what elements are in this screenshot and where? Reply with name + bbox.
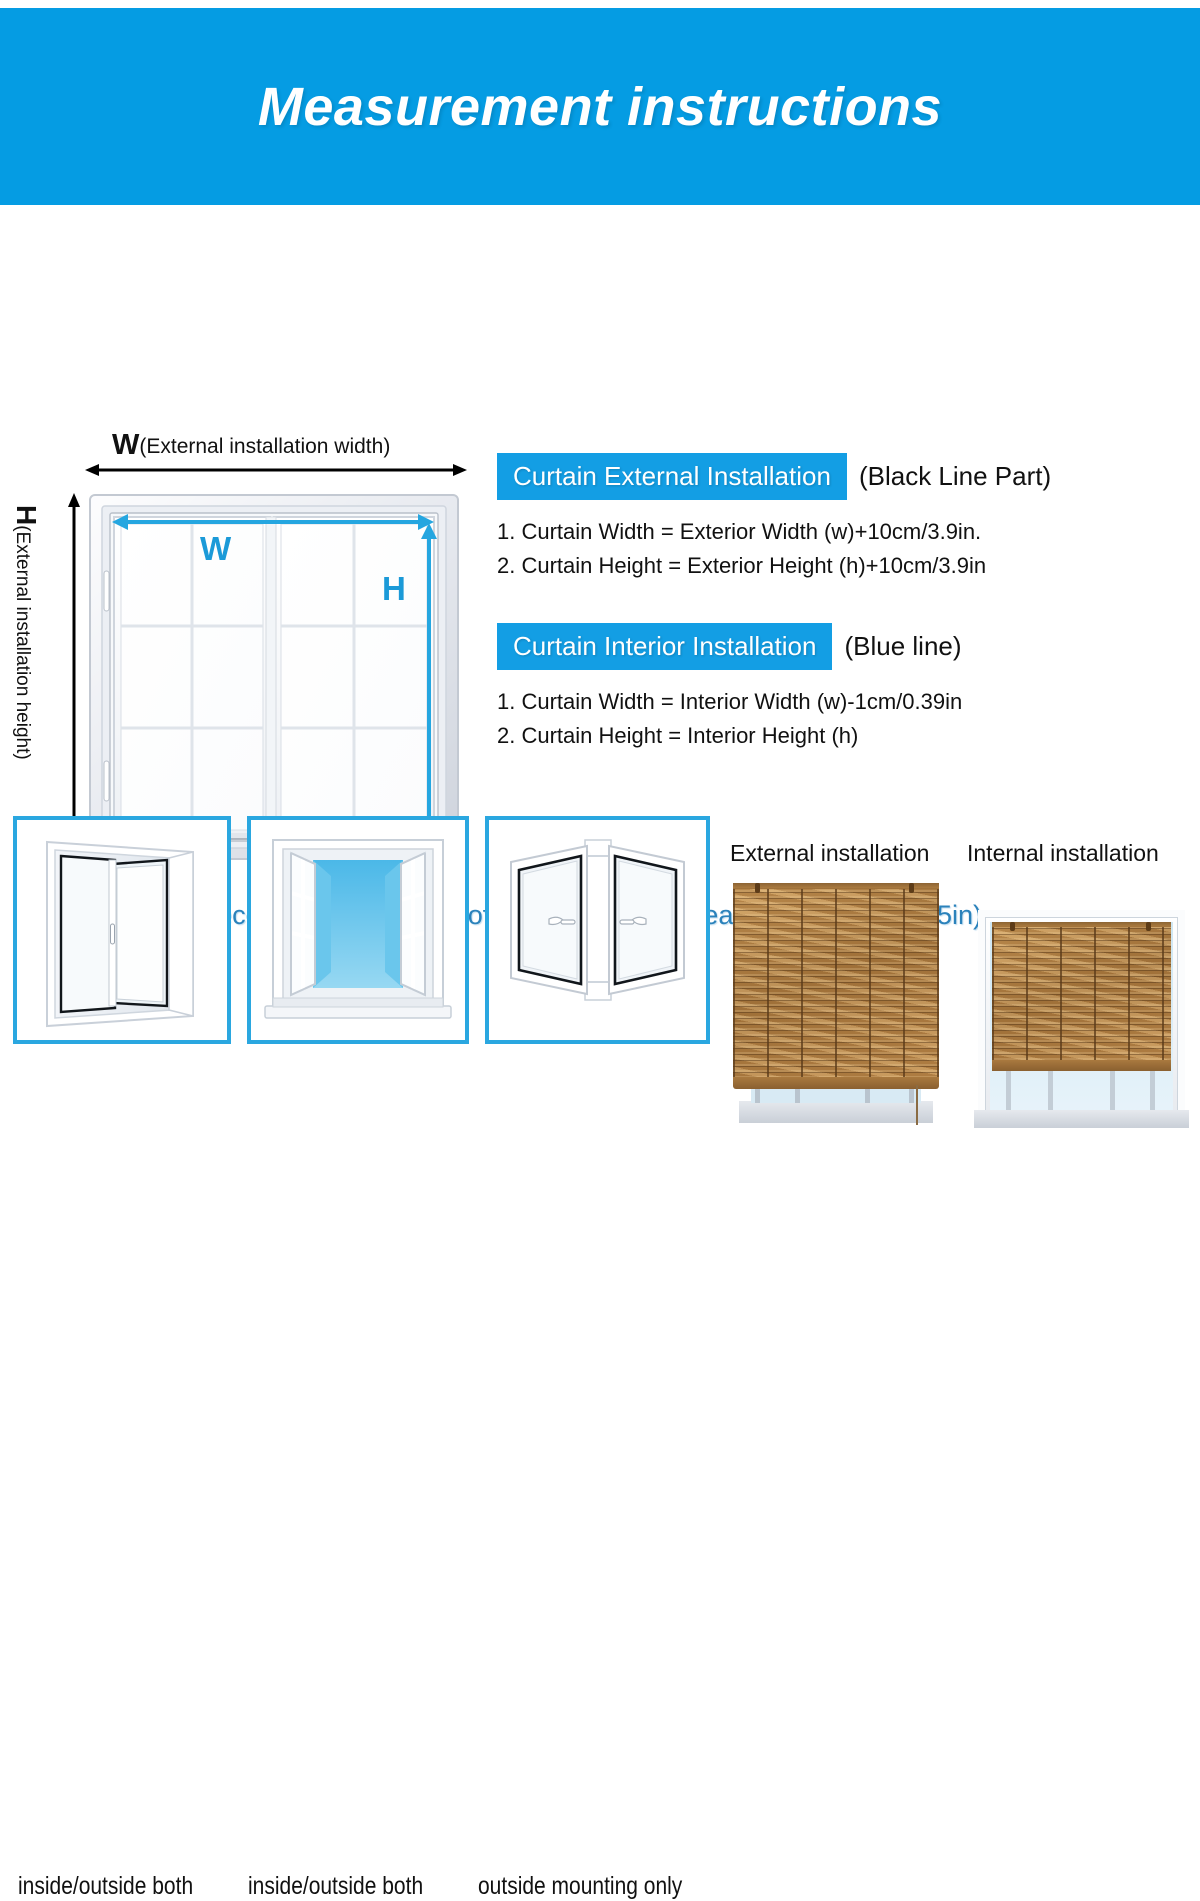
external-instruction-item: 2. Curtain Height = Exterior Height (h)+… [497,555,1177,589]
window-type-box-double-doors [485,816,710,1044]
window-type-caption: inside/outside both [248,1872,423,1901]
external-height-caption: (External installation height) [12,525,33,759]
interior-width-letter: W [200,530,231,568]
open-casement-window-illustration [251,820,465,1040]
external-badge-suffix: (Black Line Part) [859,461,1051,492]
top-white-strip [0,0,1200,8]
external-badge-row: Curtain External Installation (Black Lin… [497,453,1177,500]
window-type-box-casement [247,816,469,1044]
external-instruction-item: 1. Curtain Width = Exterior Width (w)+10… [497,521,1177,555]
sliding-window-illustration [17,820,227,1040]
window-type-caption: inside/outside both [18,1872,193,1901]
diagram-area: W(External installation width) H(Externa… [0,205,1200,800]
internal-blind-bottom-rail [992,1060,1171,1071]
bamboo-blind-internal-illustration [978,910,1185,1128]
external-width-letter: W [112,429,139,461]
page-title: Measurement instructions [258,76,942,138]
interior-instruction-item: 1. Curtain Width = Interior Width (w)-1c… [497,691,1177,725]
header-banner: Measurement instructions [0,8,1200,205]
external-height-letter: H [11,505,42,525]
bamboo-blind-external-illustration [733,883,939,1126]
width-dimension-arrow-icon [85,463,467,477]
internal-blind-sill [974,1110,1189,1128]
external-blind-bottom-rail [733,1077,939,1089]
window-type-caption: outside mounting only [478,1872,682,1901]
internal-blind-bracket [1010,922,1015,931]
interior-installation-badge: Curtain Interior Installation [497,623,832,670]
external-installation-heading: External installation [730,840,929,867]
external-blind-bracket [755,883,760,893]
external-blind-slats [733,889,939,1085]
interior-height-letter: H [382,570,406,608]
instruction-block-external: Curtain External Installation (Black Lin… [497,453,1177,589]
interior-instruction-item: 2. Curtain Height = Interior Height (h) [497,725,1177,759]
external-installation-badge: Curtain External Installation [497,453,847,500]
instructions-panel: Curtain External Installation (Black Lin… [497,453,1177,793]
double-outswing-doors-illustration [489,820,706,1040]
interior-badge-suffix: (Blue line) [844,631,961,662]
internal-installation-heading: Internal installation [967,840,1159,867]
external-width-label: W(External installation width) [112,429,390,462]
internal-blind-slats [992,927,1171,1067]
interior-instruction-list: 1. Curtain Width = Interior Width (w)-1c… [497,691,1177,759]
external-blind-bracket [909,883,914,893]
external-blind-sill [739,1101,933,1123]
internal-blind-bracket [1146,922,1151,931]
window-type-box-sliding [13,816,231,1044]
interior-badge-row: Curtain Interior Installation (Blue line… [497,623,1177,670]
external-instruction-list: 1. Curtain Width = Exterior Width (w)+10… [497,521,1177,589]
external-width-caption: (External installation width) [139,435,390,458]
external-blind-cord [916,1085,918,1125]
instruction-block-interior: Curtain Interior Installation (Blue line… [497,623,1177,759]
